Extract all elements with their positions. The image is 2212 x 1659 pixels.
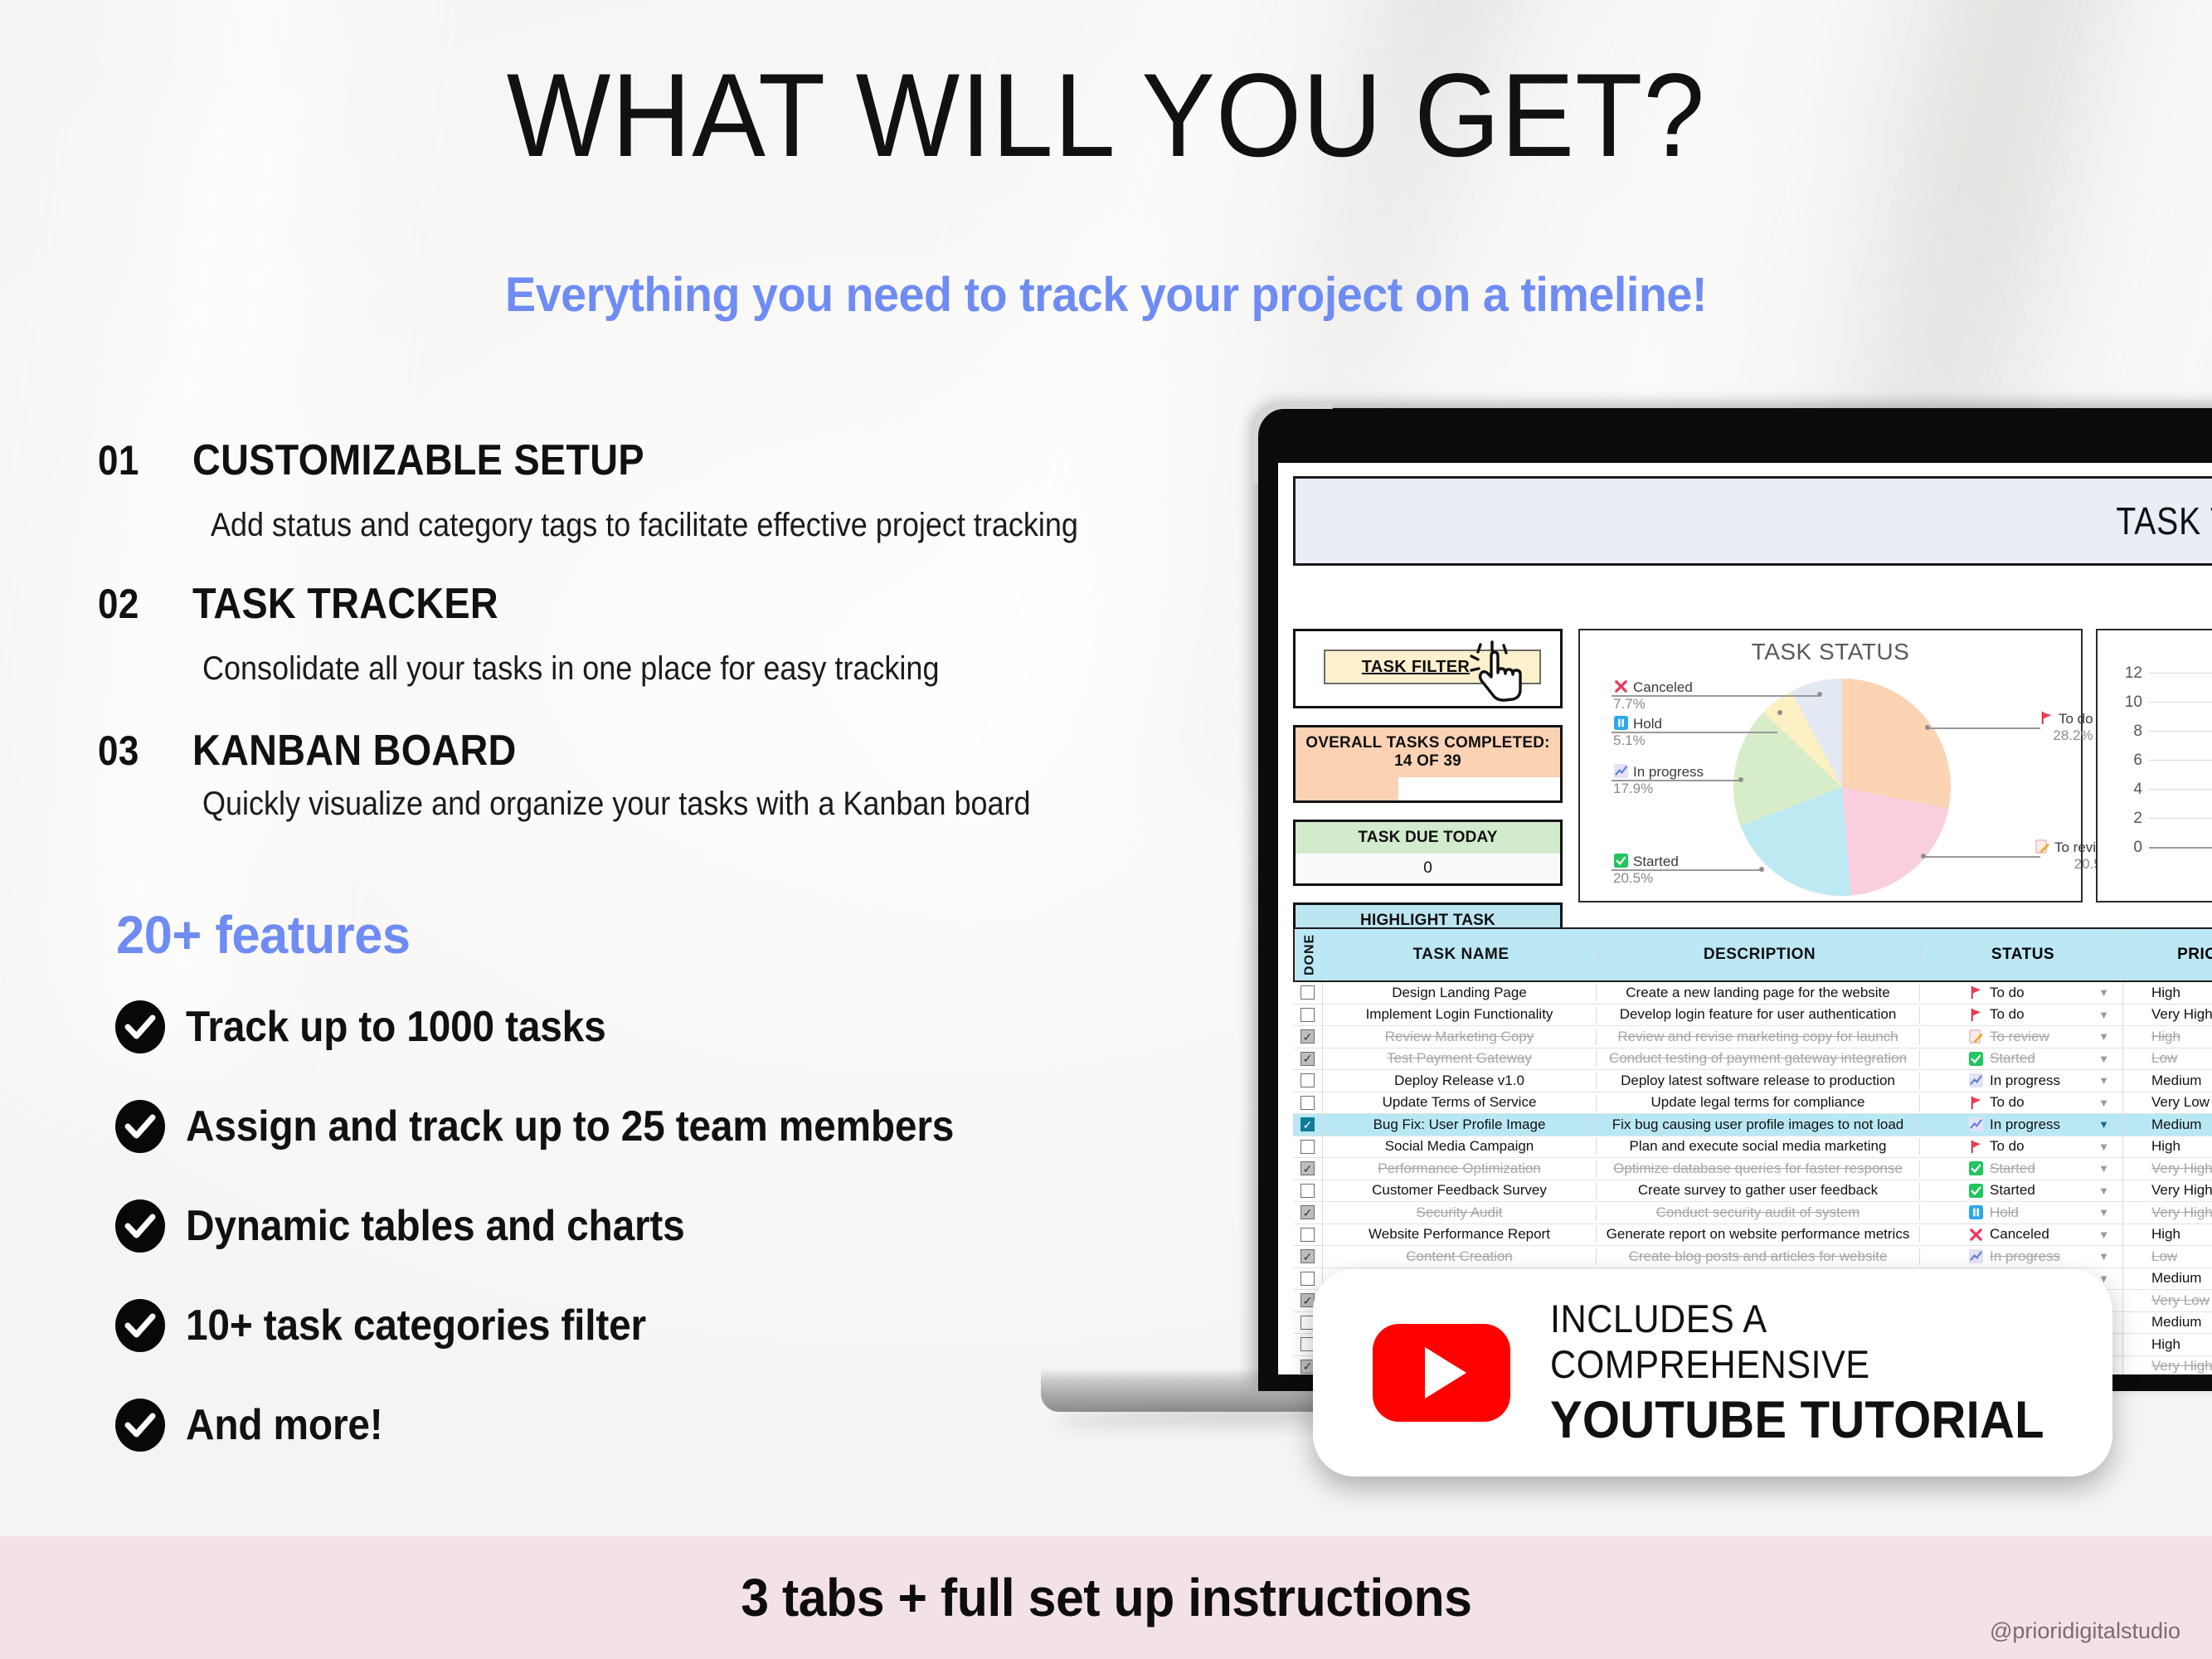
row-priority-cell[interactable]: Medium▼ [2123, 1070, 2212, 1092]
row-task-name: Security Audit [1323, 1204, 1597, 1221]
memo-pencil-icon [2035, 839, 2050, 854]
row-status-text: Started [1990, 1050, 2035, 1067]
page-subtitle: Everything you need to track your projec… [44, 267, 2167, 323]
check-circle-icon [113, 1298, 168, 1353]
leader-line [1924, 856, 2040, 858]
item-heading: TASK TRACKER [192, 579, 498, 629]
red-flag-icon [2039, 710, 2054, 726]
table-row[interactable]: Website Performance ReportGenerate repor… [1293, 1224, 2212, 1247]
checkbox-icon[interactable] [1300, 1096, 1315, 1110]
row-status-text: Canceled [1990, 1226, 2049, 1243]
row-priority-text: Medium [2151, 1314, 2201, 1331]
y-axis-tick: 8 [2109, 717, 2212, 746]
youtube-badge-line1: INCLUDES A COMPREHENSIVE [1550, 1296, 2068, 1387]
laptop-lid: TASK T TASK FILTER [1258, 408, 2212, 1391]
row-status-text: To do [1990, 985, 2025, 1001]
red-x-icon [1968, 1227, 1984, 1243]
table-row[interactable]: ✓Test Payment GatewayConduct testing of … [1293, 1048, 2212, 1071]
overall-progress-fill [1296, 777, 1398, 800]
y-axis-tick: 0 [2109, 833, 2212, 862]
chevron-down-icon[interactable]: ▼ [2098, 1162, 2109, 1175]
gridline [2149, 673, 2212, 674]
sheet-banner: TASK T [1293, 476, 2212, 566]
row-done-cell[interactable]: ✓ [1293, 1026, 1323, 1048]
chart-title: TASK STATUS [1580, 639, 2081, 665]
row-task-name: Design Landing Page [1323, 985, 1597, 1001]
row-done-cell[interactable]: ✓ [1293, 1048, 1323, 1070]
row-status-cell[interactable]: Canceled▼ [1920, 1224, 2123, 1246]
checkbox-icon[interactable]: ✓ [1300, 1029, 1315, 1044]
item-index: 02 [98, 580, 181, 628]
row-status-text: To review [1990, 1029, 2049, 1045]
leader-dot [1817, 692, 1822, 697]
chevron-down-icon[interactable]: ▼ [2098, 1228, 2109, 1241]
watermark: @prioridigitalstudio [1990, 1618, 2180, 1644]
feature-label: Track up to 1000 tasks [186, 1002, 606, 1052]
footer-text: 3 tabs + full set up instructions [741, 1567, 1471, 1628]
row-priority-text: Very High [2151, 1204, 2212, 1221]
row-task-name: Test Payment Gateway [1323, 1050, 1597, 1067]
row-task-name: Review Marketing Copy [1323, 1029, 1597, 1045]
chevron-down-icon[interactable]: ▼ [2098, 1141, 2109, 1153]
row-done-cell[interactable] [1293, 1070, 1323, 1092]
table-row[interactable]: ✓Bug Fix: User Profile ImageFix bug caus… [1293, 1114, 2212, 1136]
row-status-cell[interactable]: In progress▼ [1920, 1246, 2123, 1267]
checkbox-icon[interactable] [1300, 985, 1315, 1000]
gridline [2149, 760, 2212, 761]
row-task-name: Bug Fix: User Profile Image [1323, 1117, 1597, 1133]
row-status-cell[interactable]: To do▼ [1920, 1092, 2123, 1114]
row-description: Create a new landing page for the websit… [1597, 985, 1920, 1001]
item-description: Add status and category tags to facilita… [211, 507, 1169, 544]
chevron-down-icon[interactable]: ▼ [2098, 1097, 2109, 1109]
table-row[interactable]: ✓Review Marketing CopyReview and revise … [1293, 1026, 2212, 1048]
chevron-down-icon[interactable]: ▼ [2098, 1206, 2109, 1219]
gridline [2149, 847, 2212, 849]
red-flag-icon [1968, 1139, 1984, 1155]
table-row[interactable]: Social Media CampaignPlan and execute so… [1293, 1136, 2212, 1159]
item-index: 01 [98, 436, 181, 484]
row-task-name: Deploy Release v1.0 [1323, 1073, 1597, 1089]
row-done-cell[interactable] [1293, 1005, 1323, 1026]
row-priority-text: Low [2151, 1050, 2177, 1067]
chart-up-icon [1968, 1117, 1984, 1132]
row-task-name: Content Creation [1323, 1248, 1597, 1265]
y-axis-tick: 2 [2109, 804, 2212, 833]
chevron-down-icon[interactable]: ▼ [2098, 1118, 2109, 1131]
features-title: 20+ features [116, 904, 411, 966]
row-description: Update legal terms for compliance [1597, 1094, 1920, 1111]
row-priority-cell[interactable]: High▼ [2123, 1136, 2212, 1158]
row-status-cell[interactable]: In progress▼ [1920, 1070, 2123, 1092]
row-description: Deploy latest software release to produc… [1597, 1073, 1920, 1089]
feature-label: 10+ task categories filter [186, 1301, 646, 1350]
task-due-today-card: TASK DUE TODAY 0 [1293, 820, 1563, 886]
item-description: Consolidate all your tasks in one place … [202, 650, 1169, 688]
laptop-screen: TASK T TASK FILTER [1278, 463, 2212, 1374]
row-status-cell[interactable]: To do▼ [1920, 1136, 2123, 1158]
row-priority-cell[interactable]: Medium▼ [2123, 1312, 2212, 1334]
row-priority-cell[interactable]: Very High▼ [2123, 1158, 2212, 1180]
row-priority-cell[interactable]: Very High▼ [2123, 1202, 2212, 1224]
task-status-chart: TASK STATUS [1578, 629, 2083, 902]
table-row[interactable]: Update Terms of ServiceUpdate legal term… [1293, 1092, 2212, 1115]
page-title: WHAT WILL YOU GET? [77, 48, 2134, 184]
checkbox-icon[interactable] [1300, 1073, 1315, 1087]
y-tick-label: 6 [2109, 752, 2142, 770]
row-priority-text: Medium [2151, 1073, 2201, 1089]
checkbox-icon[interactable] [1300, 1140, 1315, 1154]
row-status-cell[interactable]: To do▼ [1920, 1005, 2123, 1026]
item-index: 03 [98, 727, 181, 775]
bar-chart-y-axis: 121086420 [2109, 659, 2212, 862]
chevron-down-icon[interactable]: ▼ [2098, 1185, 2109, 1197]
table-row[interactable]: Customer Feedback SurveyCreate survey to… [1293, 1180, 2212, 1203]
overall-tasks-label: OVERALL TASKS COMPLETED: 14 OF 39 [1296, 727, 1560, 777]
check-circle-icon [113, 1000, 168, 1054]
sheet-banner-title: TASK T [2117, 499, 2212, 543]
row-status-text: In progress [1990, 1073, 2060, 1089]
red-flag-icon [1968, 985, 1984, 1000]
table-row[interactable]: ✓Content CreationCreate blog posts and a… [1293, 1246, 2212, 1268]
y-tick-label: 0 [2109, 839, 2142, 857]
green-check-icon [1968, 1183, 1984, 1199]
pie-label-to-do: To do 28.2% [2039, 710, 2093, 744]
chevron-down-icon[interactable]: ▼ [2098, 986, 2109, 999]
checkbox-icon[interactable]: ✓ [1300, 1249, 1315, 1263]
row-status-text: Hold [1990, 1204, 2019, 1221]
footer-banner: 3 tabs + full set up instructions [0, 1536, 2212, 1659]
memo-pencil-icon [1968, 1029, 1984, 1044]
y-tick-label: 10 [2109, 693, 2142, 712]
checkbox-icon[interactable]: ✓ [1300, 1205, 1315, 1219]
column-header-status: STATUS [1922, 929, 2125, 980]
red-flag-icon [1968, 1007, 1984, 1023]
row-priority-text: High [2151, 1138, 2180, 1155]
table-row[interactable]: Implement Login FunctionalityDevelop log… [1293, 1005, 2212, 1027]
row-description: Conduct testing of payment gateway integ… [1597, 1050, 1920, 1067]
feature-item: Track up to 1000 tasks [113, 1000, 1232, 1054]
row-description: Conduct security audit of system [1597, 1204, 1920, 1221]
row-priority-cell[interactable]: High▼ [2123, 1026, 2212, 1048]
row-status-cell[interactable]: Started▼ [1920, 1180, 2123, 1202]
item-description: Quickly visualize and organize your task… [202, 786, 1169, 823]
row-description: Create blog posts and articles for websi… [1597, 1248, 1920, 1265]
row-status-cell[interactable]: To do▼ [1920, 982, 2123, 1004]
row-status-cell[interactable]: Started▼ [1920, 1158, 2123, 1180]
column-header-done: DONE [1295, 929, 1325, 980]
row-priority-cell[interactable]: High▼ [2123, 1224, 2212, 1246]
row-done-cell[interactable] [1293, 982, 1323, 1004]
blue-pause-icon [1613, 715, 1629, 731]
row-done-cell[interactable]: ✓ [1293, 1114, 1323, 1136]
chart-up-icon [1968, 1073, 1984, 1088]
row-description: Fix bug causing user profile images to n… [1597, 1117, 1920, 1133]
pie-label-in-progress: In progress 17.9% [1613, 763, 1704, 797]
table-row[interactable]: Design Landing PageCreate a new landing … [1293, 982, 2212, 1005]
row-priority-text: Medium [2151, 1117, 2201, 1133]
row-priority-cell[interactable]: Very High▼ [2123, 1180, 2212, 1202]
y-tick-label: 12 [2109, 664, 2142, 683]
check-circle-icon [113, 1199, 168, 1253]
table-row[interactable]: ✓Performance OptimizationOptimize databa… [1293, 1158, 2212, 1180]
row-description: Create survey to gather user feedback [1597, 1182, 1920, 1199]
overall-progress-track [1296, 777, 1560, 800]
youtube-badge-line2: YOUTUBE TUTORIAL [1550, 1390, 2068, 1450]
row-task-name: Customer Feedback Survey [1323, 1182, 1597, 1199]
table-row[interactable]: Deploy Release v1.0Deploy latest softwar… [1293, 1070, 2212, 1092]
row-priority-text: Very High [2151, 1358, 2212, 1374]
column-header-description: DESCRIPTION [1598, 946, 1922, 964]
row-status-text: Started [1990, 1160, 2035, 1177]
feature-label: Assign and track up to 25 team members [186, 1102, 954, 1151]
chevron-down-icon[interactable]: ▼ [2098, 1053, 2109, 1065]
leader-dot [1925, 725, 1930, 730]
green-check-icon [1968, 1051, 1984, 1067]
row-done-cell[interactable]: ✓ [1293, 1246, 1323, 1267]
gridline [2149, 818, 2212, 819]
chart-up-icon [1613, 763, 1629, 779]
row-status-text: Started [1990, 1182, 2035, 1199]
y-tick-label: 4 [2109, 781, 2142, 799]
youtube-play-icon [1373, 1324, 1510, 1422]
row-priority-text: High [2151, 1336, 2180, 1353]
leader-dot [1921, 854, 1926, 859]
row-priority-cell[interactable]: Very High▼ [2123, 1005, 2212, 1026]
table-header-row: DONE TASK NAME DESCRIPTION STATUS PRIORI… [1293, 927, 2212, 982]
chart-up-icon [1968, 1248, 1984, 1264]
leader-dot [1738, 777, 1743, 782]
row-status-cell[interactable]: To review▼ [1920, 1026, 2123, 1048]
chevron-down-icon[interactable]: ▼ [2098, 1250, 2109, 1262]
y-tick-label: 8 [2109, 722, 2142, 741]
task-due-today-label: TASK DUE TODAY [1296, 822, 1560, 854]
feature-item: Assign and track up to 25 team members [113, 1099, 1232, 1154]
chevron-down-icon[interactable]: ▼ [2098, 1030, 2109, 1043]
row-priority-cell[interactable]: High▼ [2123, 982, 2212, 1004]
feature-item: 10+ task categories filter [113, 1298, 1232, 1353]
row-priority-text: Very High [2151, 1006, 2212, 1023]
chevron-down-icon[interactable]: ▼ [2098, 1074, 2109, 1087]
row-task-name: Social Media Campaign [1323, 1138, 1597, 1155]
row-status-text: To do [1990, 1094, 2025, 1111]
row-priority-text: Very Low [2151, 1292, 2210, 1309]
row-priority-text: Very High [2151, 1160, 2212, 1177]
row-status-cell[interactable]: In progress▼ [1920, 1114, 2123, 1136]
checkbox-icon[interactable]: ✓ [1300, 1161, 1315, 1175]
item-heading: KANBAN BOARD [192, 726, 517, 776]
row-done-cell[interactable] [1293, 1092, 1323, 1114]
row-priority-text: High [2151, 985, 2180, 1001]
row-status-cell[interactable]: Started▼ [1920, 1048, 2123, 1070]
row-priority-cell[interactable]: Medium▼ [2123, 1114, 2212, 1136]
row-status-text: To do [1990, 1138, 2025, 1155]
check-circle-icon [113, 1099, 168, 1154]
pie-label-canceled: Canceled 7.7% [1613, 679, 1693, 713]
row-task-name: Performance Optimization [1323, 1160, 1597, 1177]
gridline [2149, 702, 2212, 703]
gridline [2149, 789, 2212, 790]
checkbox-icon[interactable]: ✓ [1300, 1052, 1315, 1066]
chevron-down-icon[interactable]: ▼ [2098, 1009, 2109, 1021]
row-status-text: In progress [1990, 1117, 2060, 1133]
y-axis-tick: 10 [2109, 688, 2212, 717]
row-status-text: In progress [1990, 1248, 2060, 1265]
item-heading: CUSTOMIZABLE SETUP [192, 435, 644, 485]
row-task-name: Implement Login Functionality [1323, 1006, 1597, 1023]
row-description: Generate report on website performance m… [1597, 1226, 1920, 1243]
row-priority-text: High [2151, 1226, 2180, 1243]
row-status-text: To do [1990, 1006, 2025, 1023]
task-due-today-value: 0 [1296, 854, 1560, 883]
task-filter-label: TASK FILTER [1362, 658, 1470, 677]
row-priority-text: Low [2151, 1248, 2177, 1265]
row-priority-cell[interactable]: High▼ [2123, 1334, 2212, 1355]
y-axis-tick: 4 [2109, 775, 2212, 804]
row-done-cell[interactable] [1293, 1136, 1323, 1158]
pie-label-started: Started 20.5% [1613, 853, 1679, 887]
row-done-cell[interactable] [1293, 1268, 1323, 1290]
numbered-item: 03 KANBAN BOARD Quickly visualize and or… [98, 726, 1276, 823]
row-priority-text: Very Low [2151, 1094, 2210, 1111]
numbered-feature-list: 01 CUSTOMIZABLE SETUP Add status and cat… [98, 435, 1276, 823]
y-tick-label: 2 [2109, 810, 2142, 828]
column-header-task-name: TASK NAME [1325, 946, 1598, 964]
row-priority-cell[interactable]: Low▼ [2123, 1048, 2212, 1070]
row-priority-cell[interactable]: Very High▼ [2123, 1356, 2212, 1375]
red-x-icon [1613, 679, 1629, 694]
row-task-name: Update Terms of Service [1323, 1094, 1597, 1111]
row-done-cell[interactable] [1293, 1180, 1323, 1202]
green-check-icon [1613, 853, 1629, 868]
checkbox-icon[interactable] [1300, 1228, 1315, 1242]
red-flag-icon [1968, 1095, 1984, 1111]
table-row[interactable]: ✓Security AuditConduct security audit of… [1293, 1202, 2212, 1224]
row-description: Develop login feature for user authentic… [1597, 1006, 1920, 1023]
numbered-item: 01 CUSTOMIZABLE SETUP Add status and cat… [98, 435, 1276, 544]
row-description: Optimize database queries for faster res… [1597, 1160, 1920, 1177]
row-priority-cell[interactable]: Low▼ [2123, 1246, 2212, 1267]
row-priority-cell[interactable]: Very Low▼ [2123, 1290, 2212, 1311]
leader-dot [1759, 867, 1764, 872]
row-description: Review and revise marketing copy for lau… [1597, 1029, 1920, 1045]
check-circle-icon [113, 1398, 168, 1452]
numbered-item: 02 TASK TRACKER Consolidate all your tas… [98, 579, 1276, 688]
row-done-cell[interactable] [1293, 1224, 1323, 1246]
y-axis-tick: 6 [2109, 746, 2212, 775]
checkbox-icon[interactable]: ✓ [1300, 1117, 1315, 1131]
row-done-cell[interactable]: ✓ [1293, 1202, 1323, 1224]
task-filter-card[interactable]: TASK FILTER [1293, 629, 1563, 708]
row-status-cell[interactable]: Hold▼ [1920, 1202, 2123, 1224]
youtube-tutorial-badge[interactable]: INCLUDES A COMPREHENSIVE YOUTUBE TUTORIA… [1313, 1269, 2112, 1477]
row-done-cell[interactable]: ✓ [1293, 1158, 1323, 1180]
checkbox-icon[interactable] [1300, 1008, 1315, 1022]
row-priority-cell[interactable]: Very Low▼ [2123, 1092, 2212, 1114]
row-priority-text: Very High [2151, 1182, 2212, 1199]
pie-wrap [1733, 679, 1951, 896]
gridline [2149, 731, 2212, 732]
y-axis-tick: 12 [2109, 659, 2212, 688]
pie-slices [1733, 679, 1951, 896]
pie-label-hold: Hold 5.1% [1613, 715, 1662, 749]
column-header-priority: PRIORITY [2125, 929, 2212, 980]
green-check-icon [1968, 1160, 1984, 1176]
checkbox-icon[interactable] [1300, 1184, 1315, 1198]
feature-label: And more! [186, 1400, 383, 1450]
row-description: Plan and execute social media marketing [1597, 1138, 1920, 1155]
leader-dot [1777, 710, 1782, 715]
row-priority-text: High [2151, 1029, 2180, 1045]
pointing-hand-click-icon [1466, 640, 1526, 704]
row-priority-text: Medium [2151, 1270, 2201, 1287]
overall-tasks-card: OVERALL TASKS COMPLETED: 14 OF 39 [1293, 725, 1563, 803]
feature-item: Dynamic tables and charts [113, 1199, 1232, 1253]
secondary-bar-chart: 121086420 [2096, 629, 2212, 902]
row-priority-cell[interactable]: Medium▼ [2123, 1268, 2212, 1290]
checkbox-icon[interactable] [1300, 1272, 1315, 1286]
feature-label: Dynamic tables and charts [186, 1201, 685, 1251]
blue-pause-icon [1968, 1204, 1984, 1220]
leader-line [1928, 727, 2040, 729]
spreadsheet-app: TASK T TASK FILTER [1278, 463, 2212, 1374]
row-task-name: Website Performance Report [1323, 1226, 1597, 1243]
